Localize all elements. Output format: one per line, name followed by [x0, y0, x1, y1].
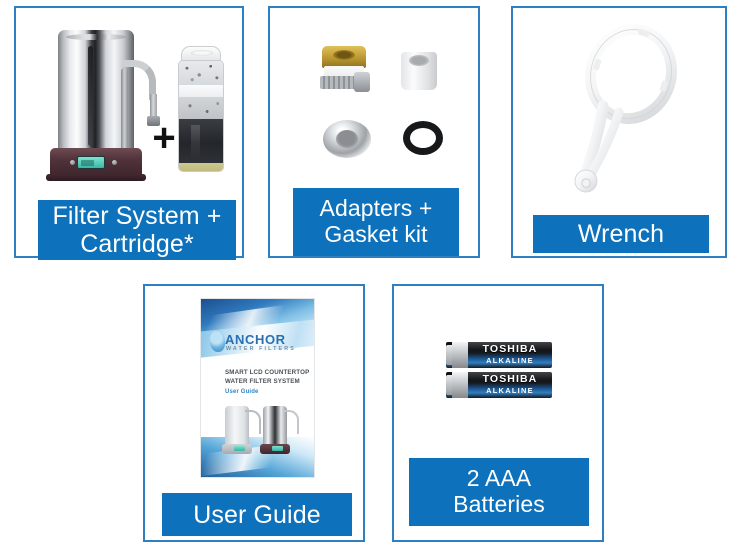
brand-name: ANCHOR — [225, 332, 286, 347]
filter-button-right — [112, 160, 117, 165]
filter-base — [50, 148, 142, 178]
cover-unit-chrome — [263, 406, 287, 454]
caption-line-2: Gasket kit — [320, 222, 433, 248]
caption-adapters: Adapters + Gasket kit — [293, 188, 459, 256]
wrench-graphic — [559, 24, 685, 200]
panel-batteries[interactable]: TOSHIBA ALKALINE TOSHIBA ALKALINE 2 AAA … — [392, 284, 604, 542]
caption-line-1: Filter System + — [53, 202, 222, 230]
panel-user-guide[interactable]: ANCHOR WATER FILTERS SMART LCD COUNTERTO… — [143, 284, 365, 542]
package-contents-board: + Filter System + Cartridge* — [0, 0, 741, 558]
panel-adapters[interactable]: Adapters + Gasket kit — [268, 6, 480, 258]
cover-title-line-3: User Guide — [225, 388, 313, 397]
caption-line-1: User Guide — [193, 501, 320, 529]
battery-top: TOSHIBA ALKALINE — [446, 342, 552, 368]
water-drop-icon — [209, 329, 226, 352]
lcd-display — [77, 156, 105, 169]
filter-cartridge-graphic — [174, 46, 228, 174]
battery-bottom: TOSHIBA ALKALINE — [446, 372, 552, 398]
countertop-filter-unit-graphic — [44, 30, 154, 185]
caption-line-1: 2 AAA — [453, 466, 545, 492]
chrome-ring-graphic — [323, 120, 371, 158]
cover-title-line-2: WATER FILTER SYSTEM — [225, 378, 300, 385]
battery-pair-graphic: TOSHIBA ALKALINE TOSHIBA ALKALINE — [446, 342, 556, 400]
panel-wrench[interactable]: Wrench — [511, 6, 727, 258]
caption-wrench: Wrench — [533, 215, 709, 253]
filter-button-left — [70, 160, 75, 165]
battery-chemistry: ALKALINE — [470, 355, 550, 367]
anchor-logo: ANCHOR WATER FILTERS — [209, 332, 309, 358]
cartridge-tube — [178, 60, 224, 172]
battery-chemistry: ALKALINE — [470, 385, 550, 397]
caption-line-1: Wrench — [578, 220, 664, 248]
panel-filter-system[interactable]: + Filter System + Cartridge* — [14, 6, 244, 258]
brand-tagline: WATER FILTERS — [226, 346, 296, 352]
o-ring-gasket-graphic — [403, 121, 443, 155]
caption-filter-system: Filter System + Cartridge* — [38, 200, 236, 260]
cover-unit-white — [225, 406, 249, 454]
brass-adapter-graphic — [318, 46, 372, 98]
caption-batteries: 2 AAA Batteries — [409, 458, 589, 526]
caption-line-2: Batteries — [453, 492, 545, 518]
cover-product-photos — [223, 399, 303, 454]
caption-line-1: Adapters + — [320, 196, 433, 222]
plastic-sleeve-graphic — [401, 52, 437, 90]
caption-line-2: Cartridge* — [53, 230, 222, 258]
user-guide-booklet-cover: ANCHOR WATER FILTERS SMART LCD COUNTERTO… — [200, 298, 315, 478]
cover-title-line-1: SMART LCD COUNTERTOP — [225, 369, 309, 376]
caption-user-guide: User Guide — [162, 493, 352, 536]
cover-title-block: SMART LCD COUNTERTOP WATER FILTER SYSTEM… — [225, 369, 313, 397]
